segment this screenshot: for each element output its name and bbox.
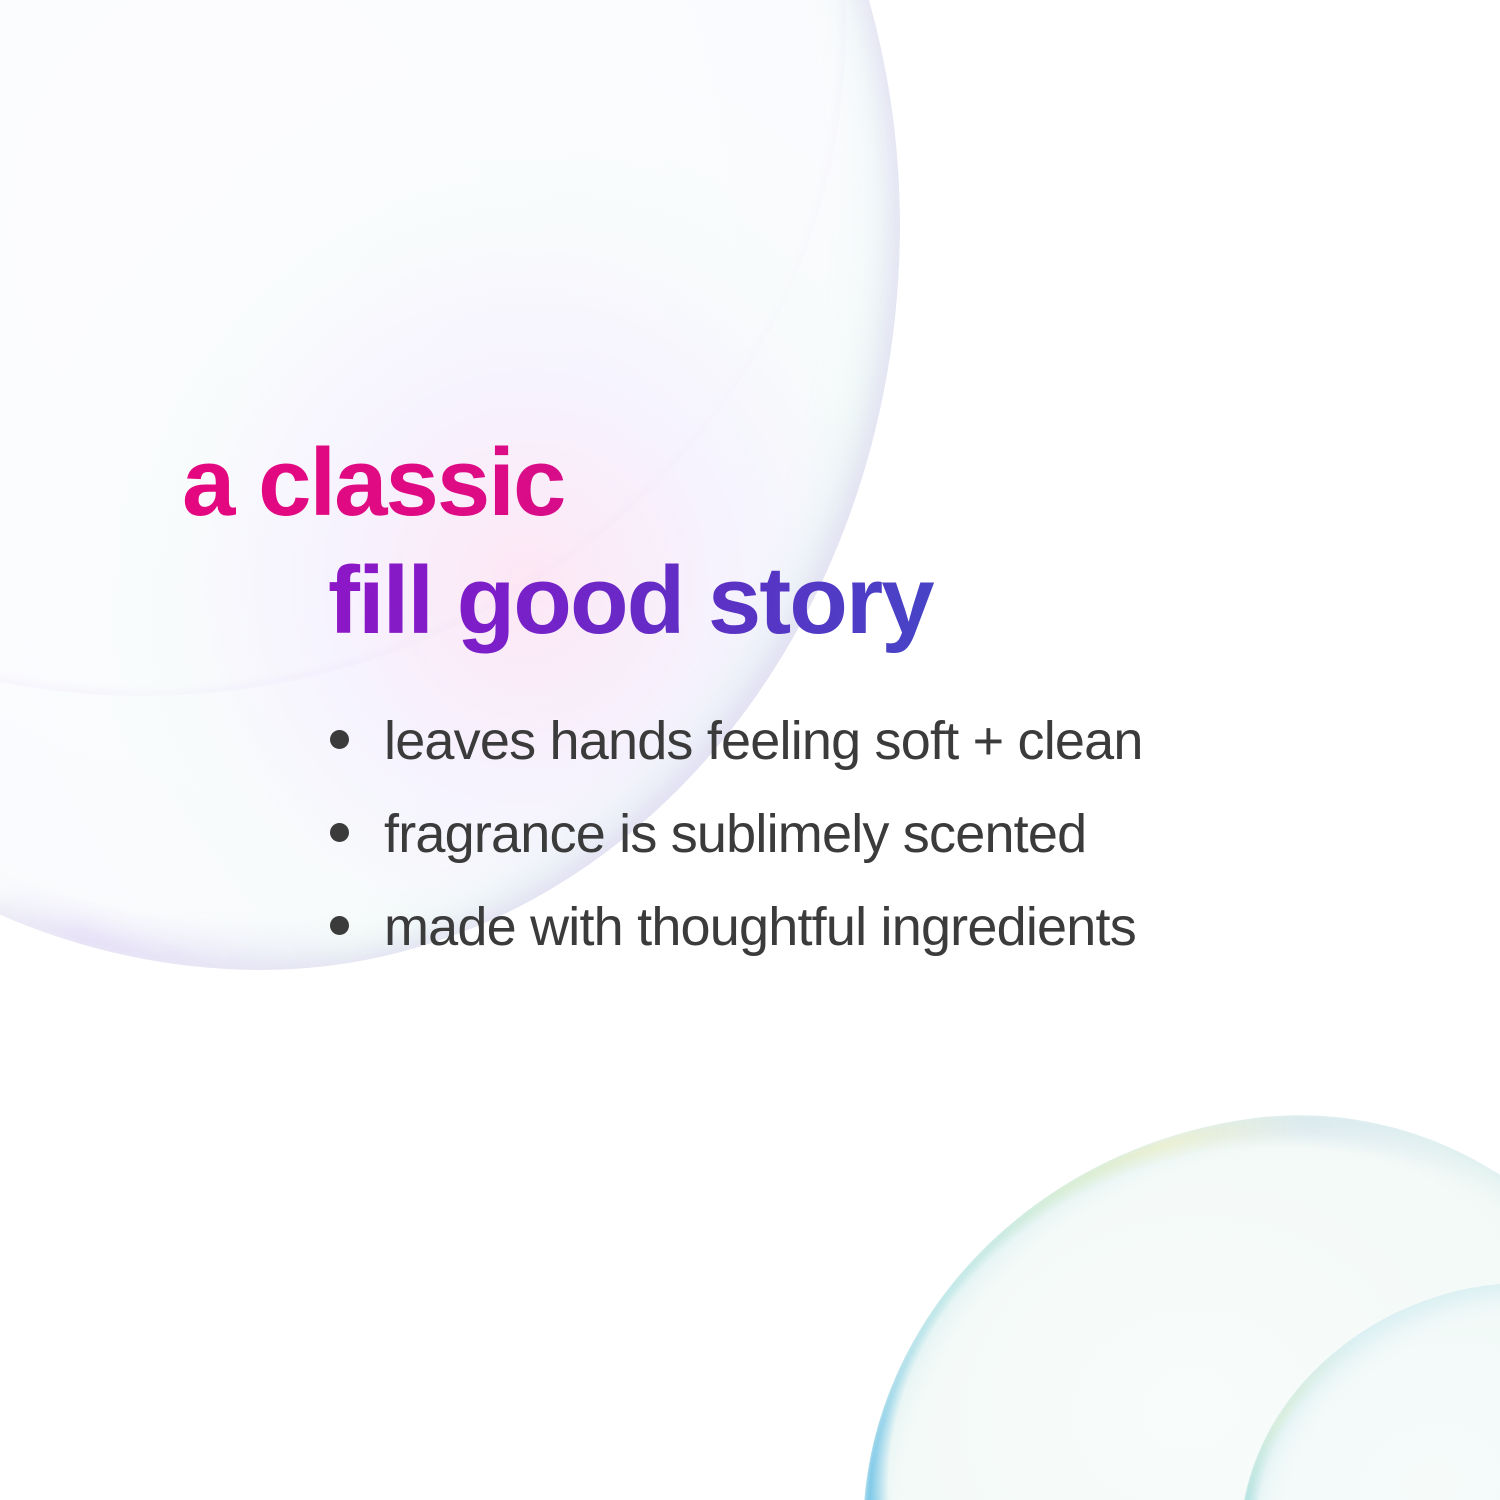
feature-bullet-list: leaves hands feeling soft + clean fragra… bbox=[0, 706, 1500, 985]
bullet-dot-icon bbox=[330, 916, 349, 935]
headline-line-1: a classic bbox=[182, 424, 1500, 542]
bullet-dot-icon bbox=[330, 823, 349, 842]
list-item-label: fragrance is sublimely scented bbox=[384, 799, 1086, 870]
list-item: made with thoughtful ingredients bbox=[330, 892, 1500, 963]
bullet-dot-icon bbox=[330, 730, 349, 749]
marketing-graphic: a classic fill good story leaves hands f… bbox=[0, 0, 1500, 1500]
content-layer: a classic fill good story leaves hands f… bbox=[0, 0, 1500, 1500]
list-item-label: leaves hands feeling soft + clean bbox=[384, 706, 1143, 777]
list-item-label: made with thoughtful ingredients bbox=[384, 892, 1136, 963]
list-item: fragrance is sublimely scented bbox=[330, 799, 1500, 870]
headline-line-2: fill good story bbox=[328, 542, 1500, 660]
list-item: leaves hands feeling soft + clean bbox=[330, 706, 1500, 777]
headline: a classic fill good story bbox=[0, 424, 1500, 660]
